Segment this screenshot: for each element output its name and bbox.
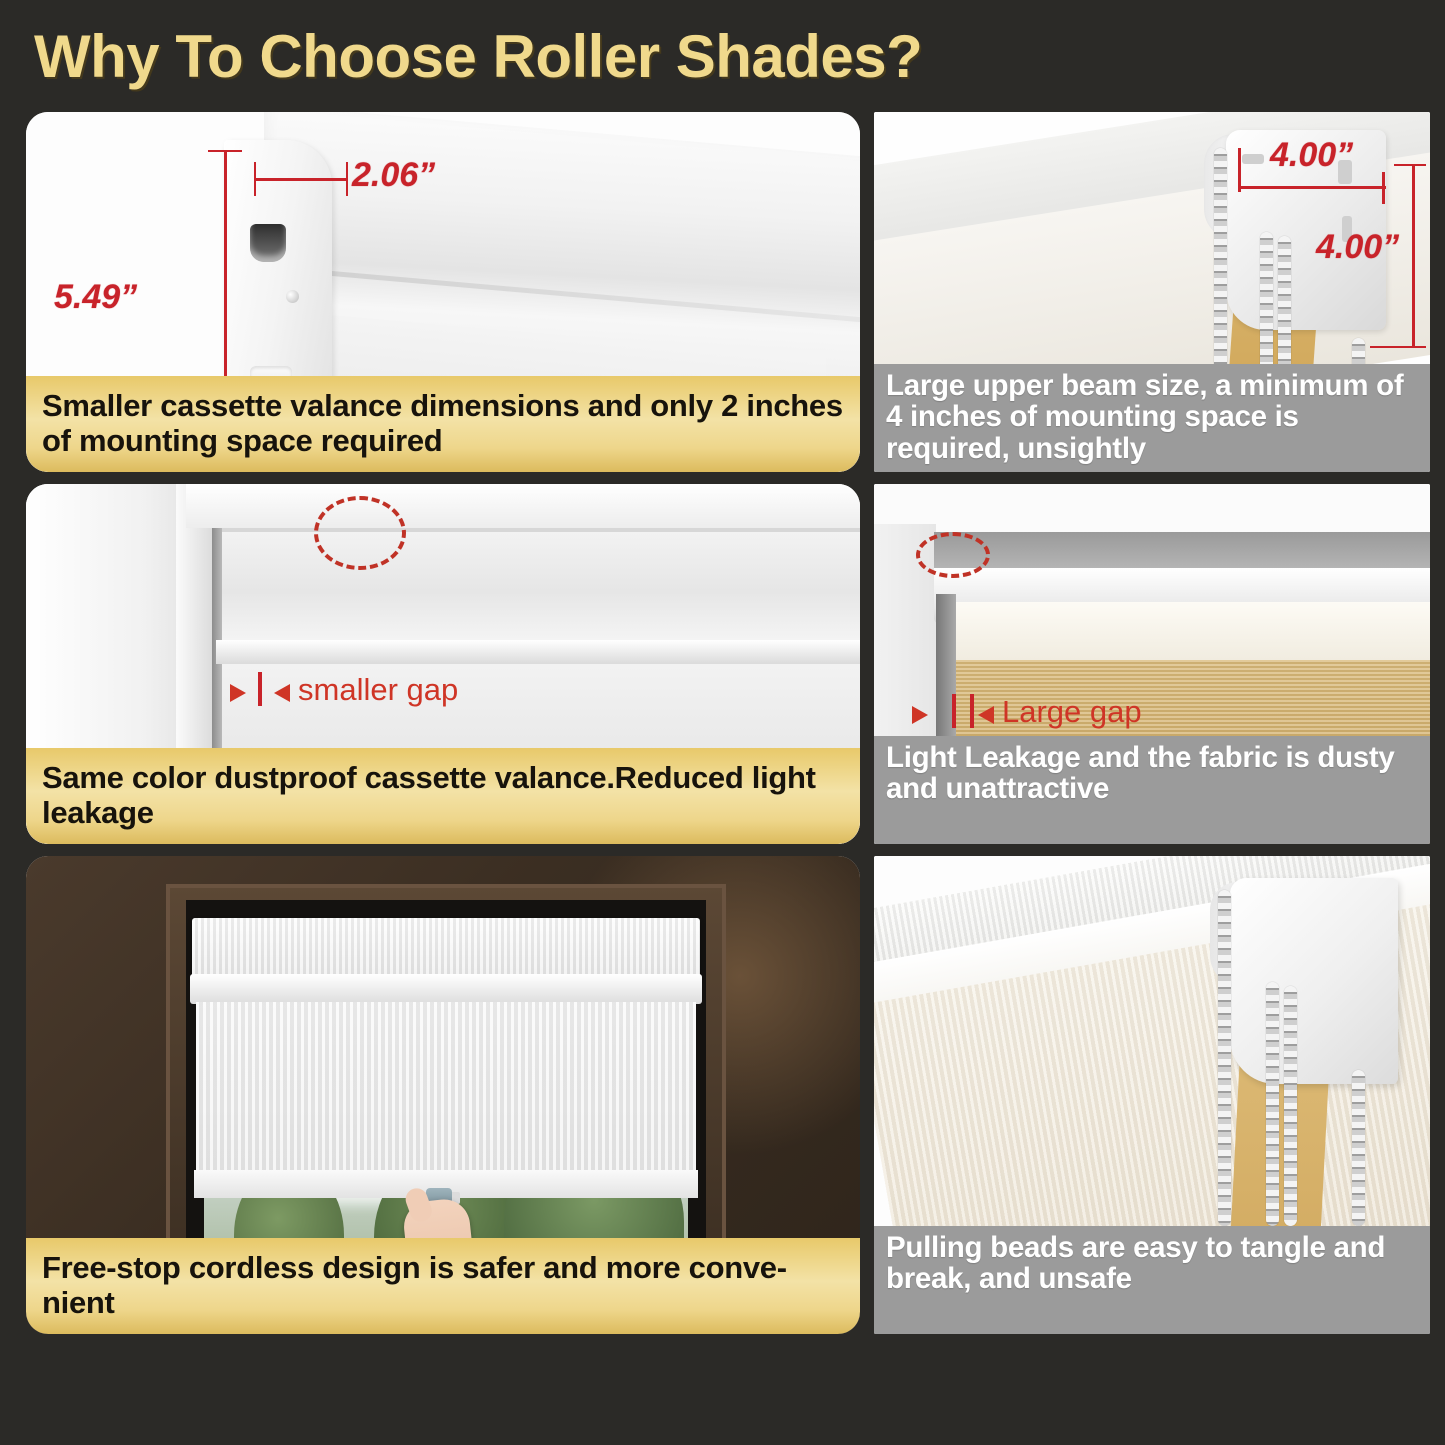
dimension-label-height: 5.49” (54, 278, 137, 317)
dim-tick-beam-right (1382, 172, 1385, 204)
shade-fabric-panel (196, 1002, 696, 1178)
gap-label-smaller: smaller gap (298, 672, 458, 708)
gap-arrow-right-icon (912, 706, 928, 724)
panel-smaller-gap: smaller gap Same color dustproof cassett… (26, 484, 860, 844)
dimension-label-beam-height: 4.00” (1316, 228, 1399, 267)
dimension-label-beam-width: 4.00” (1270, 136, 1353, 175)
dim-line-width (254, 178, 348, 181)
bead-chain-1 (1218, 890, 1231, 1226)
mounting-bracket (1230, 878, 1398, 1084)
panel-cassette-dimensions: 2.06” 5.49” Smaller cassette valance dim… (26, 112, 860, 472)
dim-line-beam-width (1238, 186, 1386, 189)
gap-arrow-right-icon (230, 684, 246, 702)
caption-bar-cordless: Free-stop cordless design is safer and m… (26, 1238, 860, 1334)
dim-tick-beam-top (1394, 164, 1426, 166)
panel-large-gap: Large gap Light Leakage and the fabric i… (874, 484, 1430, 844)
caption-text: Pulling beads are easy to tangle and bre… (886, 1226, 1418, 1295)
highlight-ellipse-icon (314, 496, 406, 570)
gap-marker-line (258, 672, 262, 706)
panel-cordless-window-scene: Free-stop cordless design is safer and m… (26, 856, 860, 1334)
caption-text: Smaller cassette valance dimensions and … (42, 389, 844, 458)
endcap-slot-icon (250, 224, 286, 262)
gap-marker-line-a (952, 694, 956, 728)
bead-chain-2 (1266, 982, 1279, 1226)
caption-text: Free-stop cordless design is safer and m… (42, 1251, 844, 1320)
caption-text: Same color dustproof cassette valance.Re… (42, 761, 844, 830)
bracket-tab-1 (1242, 154, 1264, 164)
gap-marker-line-b (970, 694, 974, 728)
caption-bar-smaller-gap: Same color dustproof cassette valance.Re… (26, 748, 860, 844)
gap-arrow-left-icon (978, 706, 994, 724)
dim-line-beam-height (1412, 164, 1415, 348)
bead-chain-4 (1352, 1070, 1365, 1226)
gap-label-large: Large gap (1002, 694, 1142, 730)
caption-bar-cassette-dimensions: Smaller cassette valance dimensions and … (26, 376, 860, 472)
highlight-ellipse-icon (916, 532, 990, 578)
dim-tick-beam-bottom (1370, 346, 1426, 348)
white-fabric-band (952, 602, 1430, 660)
dimension-label-width: 2.06” (352, 156, 435, 195)
window-head-trim (186, 484, 860, 528)
caption-bar-large-beam: Large upper beam size, a minimum of 4 in… (874, 364, 1430, 472)
panel-bead-chain-shade: Pulling beads are easy to tangle and bre… (874, 856, 1430, 1334)
dim-tick-height-top (208, 150, 242, 152)
endcap-screw-icon (286, 290, 299, 303)
caption-text: Light Leakage and the fabric is dusty an… (886, 736, 1418, 805)
gap-arrow-left-icon (274, 684, 290, 702)
cassette-lip (216, 640, 860, 664)
panel-large-beam-dimensions: 4.00” 4.00” Large upper beam size, a min… (874, 112, 1430, 472)
caption-bar-large-gap: Light Leakage and the fabric is dusty an… (874, 736, 1430, 844)
shade-valance-lip (190, 974, 702, 1004)
shade-cassette-valance (192, 918, 700, 980)
page-title: Why To Choose Roller Shades? (34, 22, 922, 91)
caption-text: Large upper beam size, a minimum of 4 in… (886, 364, 1418, 464)
caption-bar-bead-chain: Pulling beads are easy to tangle and bre… (874, 1226, 1430, 1334)
bead-chain-3 (1284, 986, 1297, 1226)
